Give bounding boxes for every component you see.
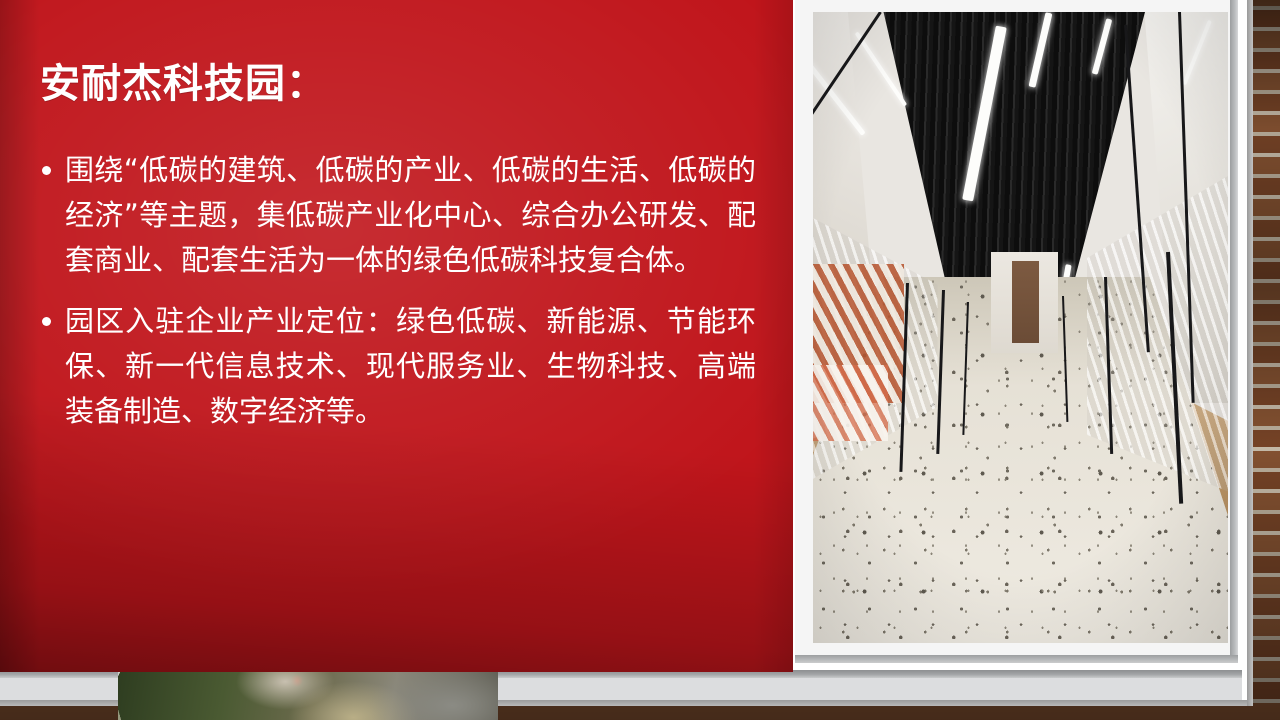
- slide-canvas: 安耐杰科技园： 围绕“低碳的建筑、低碳的产业、低碳的生活、低碳的经济”等主题，集…: [0, 0, 1280, 720]
- photo-frame: [795, 0, 1238, 663]
- aerial-site-photo: [118, 672, 498, 720]
- photo-frame-right-edge: [1230, 0, 1238, 663]
- wall-art-panel-secondary: [813, 365, 888, 441]
- office-corridor-photo: [813, 12, 1228, 643]
- panel-content: 安耐杰科技园： 围绕“低碳的建筑、低碳的产业、低碳的生活、低碳的经济”等主题，集…: [40, 62, 756, 450]
- page-right-shadow: [1247, 0, 1253, 706]
- page-title: 安耐杰科技园：: [40, 62, 756, 106]
- bullet-list: 围绕“低碳的建筑、低碳的产业、低碳的生活、低碳的经济”等主题，集低碳产业化中心、…: [40, 148, 756, 434]
- corridor-door: [1012, 261, 1039, 343]
- list-item: 围绕“低碳的建筑、低碳的产业、低碳的生活、低碳的经济”等主题，集低碳产业化中心、…: [40, 148, 756, 283]
- list-item: 园区入驻企业产业定位：绿色低碳、新能源、节能环保、新一代信息技术、现代服务业、生…: [40, 299, 756, 434]
- red-content-panel: 安耐杰科技园： 围绕“低碳的建筑、低碳的产业、低碳的生活、低碳的经济”等主题，集…: [0, 0, 793, 672]
- photo-frame-bottom-edge: [795, 655, 1238, 663]
